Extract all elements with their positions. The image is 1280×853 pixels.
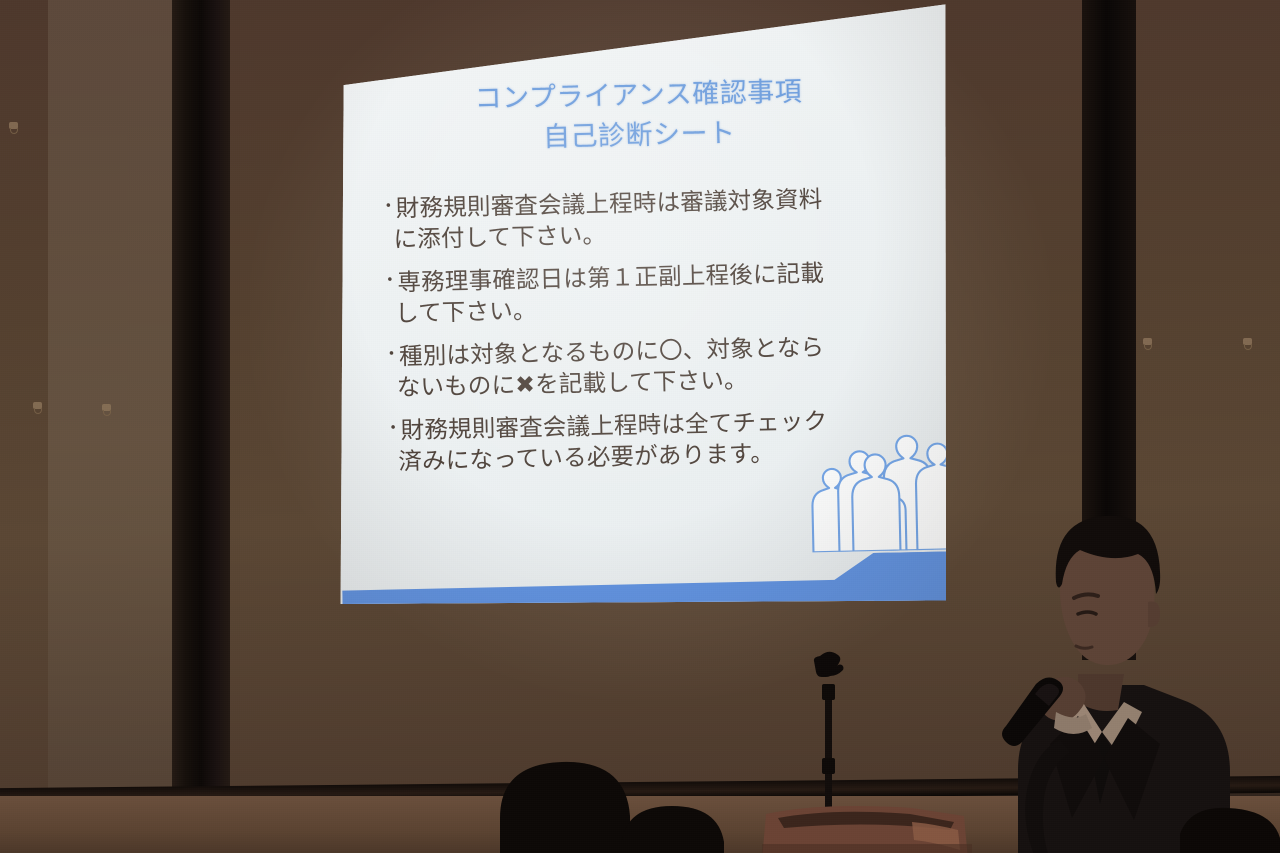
bullet-marker-icon: ・: [381, 267, 398, 294]
projection-screen: コンプライアンス確認事項 自己診断シート ・ 財務規則審査会議上程時は審議対象資…: [340, 2, 946, 604]
wall-hook: [102, 404, 111, 411]
wall-panel-left: [48, 0, 176, 800]
presentation-photo-scene: コンプライアンス確認事項 自己診断シート ・ 財務規則審査会議上程時は審議対象資…: [0, 0, 1280, 853]
list-item: ・ 専務理事確認日は第１正副上程後に記載 して下さい。: [381, 256, 924, 329]
microphone-stand: [806, 650, 852, 820]
wall-hook: [9, 122, 18, 129]
wall-hook: [1143, 338, 1152, 345]
bullet-text: 専務理事確認日は第１正副上程後に記載 して下さい。: [397, 256, 924, 329]
bullet-marker-icon: ・: [384, 416, 401, 443]
slide-content: コンプライアンス確認事項 自己診断シート ・ 財務規則審査会議上程時は審議対象資…: [334, 0, 953, 611]
curtain-left: [172, 0, 230, 790]
audience-head-silhouette-right: [1180, 800, 1280, 853]
list-item: ・ 種別は対象となるものに〇、対象となら ないものに✖を記載して下さい。: [383, 330, 926, 403]
audience-head-silhouettes: [470, 700, 800, 853]
wall-hook: [1243, 338, 1252, 345]
bullet-marker-icon: ・: [380, 193, 397, 220]
bullet-marker-icon: ・: [383, 342, 400, 369]
wall-hook: [33, 402, 42, 409]
bullet-text: 種別は対象となるものに〇、対象となら ないものに✖を記載して下さい。: [399, 330, 926, 403]
speaker-presenter: [952, 470, 1280, 853]
slide-title: コンプライアンス確認事項 自己診断シート: [335, 69, 943, 162]
list-item: ・ 財務規則審査会議上程時は審議対象資料 に添付して下さい。: [380, 182, 923, 255]
people-group-outline-icon: [805, 417, 958, 552]
bullet-text: 財務規則審査会議上程時は審議対象資料 に添付して下さい。: [396, 182, 923, 255]
